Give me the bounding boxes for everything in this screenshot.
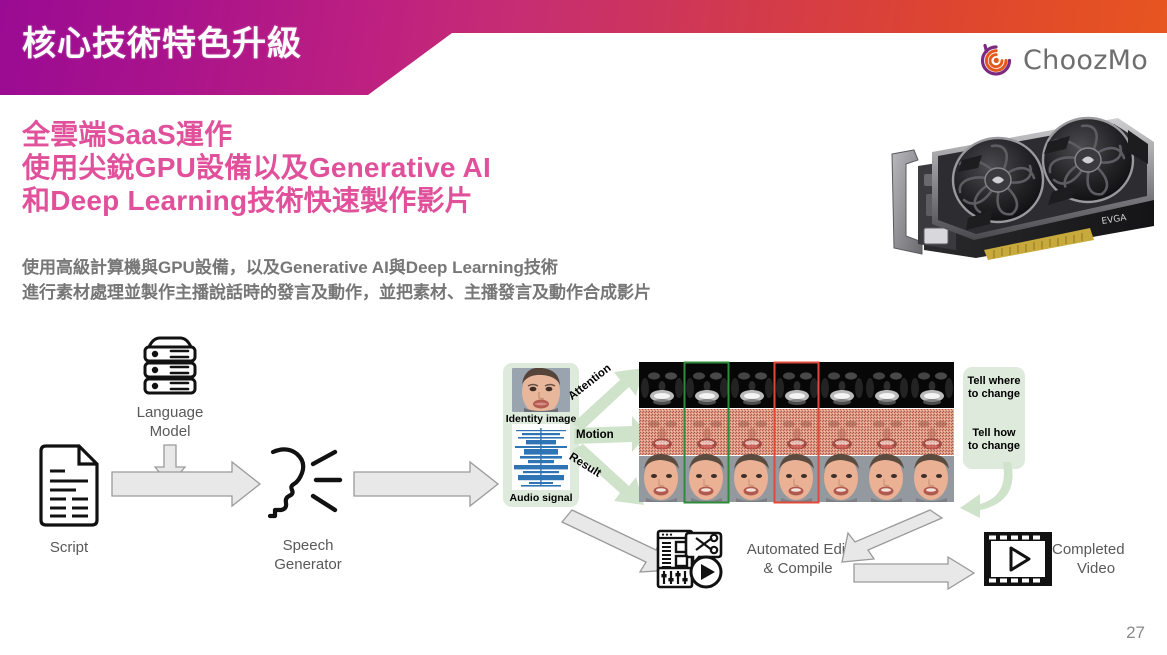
language-model-label: Language Model: [110, 403, 230, 441]
slide-canvas: 核心技術特色升級 ChoozMo 全雲端SaaS運作 使用尖銳GPU設備以及Ge…: [0, 0, 1167, 655]
heading-line-1: 全雲端SaaS運作: [22, 118, 642, 151]
heading-line-3: 和Deep Learning技術快速製作影片: [22, 184, 642, 217]
audio-signal-waveform: [512, 424, 570, 490]
page-number: 27: [1126, 623, 1145, 643]
arrow-edit-to-video: [852, 555, 976, 591]
server-stack-icon: [133, 333, 207, 399]
subtitle-line-1: 使用高級計算機與GPU設備，以及Generative AI與Deep Learn…: [22, 255, 852, 280]
brand-name: ChoozMo: [1023, 45, 1148, 76]
audio-signal-caption: Audio signal: [504, 492, 578, 504]
tell-panel-curved-arrow: [940, 460, 1020, 520]
arrow-speech-to-model: [352, 460, 500, 508]
tell-where-label: Tell where to change: [963, 375, 1025, 401]
subtitle-line-2: 進行素材處理並製作主播說話時的發言及動作，並把素材、主播發言及動作合成影片: [22, 280, 852, 305]
subtitle-text: 使用高級計算機與GPU設備，以及Generative AI與Deep Learn…: [22, 255, 852, 305]
spiral-logo-icon: [976, 40, 1016, 80]
speech-generator-label: Speech Generator: [252, 536, 364, 574]
page-title: 核心技術特色升級: [22, 16, 302, 65]
heading-line-2: 使用尖銳GPU設備以及Generative AI: [22, 151, 642, 184]
brand-logo: ChoozMo: [976, 36, 1136, 84]
identity-image-photo: [512, 368, 570, 412]
completed-video-label: Completed Video: [1052, 540, 1162, 578]
script-label: Script: [24, 538, 114, 557]
gpu-graphics-card-image: EVGA: [866, 108, 1158, 268]
arrow-script-to-speech: [110, 460, 262, 508]
result-face-row: [639, 454, 954, 502]
attention-map-row: [639, 362, 954, 408]
document-icon: [36, 443, 102, 528]
video-editor-icon: [655, 528, 725, 590]
motion-map-row: [639, 409, 954, 455]
main-heading: 全雲端SaaS運作 使用尖銳GPU設備以及Generative AI 和Deep…: [22, 118, 642, 217]
tell-how-label: Tell how to change: [963, 427, 1025, 453]
face-grid: [639, 362, 959, 504]
film-play-icon: [982, 530, 1054, 588]
speaking-head-icon: [265, 440, 349, 526]
flow-label-motion: Motion: [576, 429, 614, 441]
